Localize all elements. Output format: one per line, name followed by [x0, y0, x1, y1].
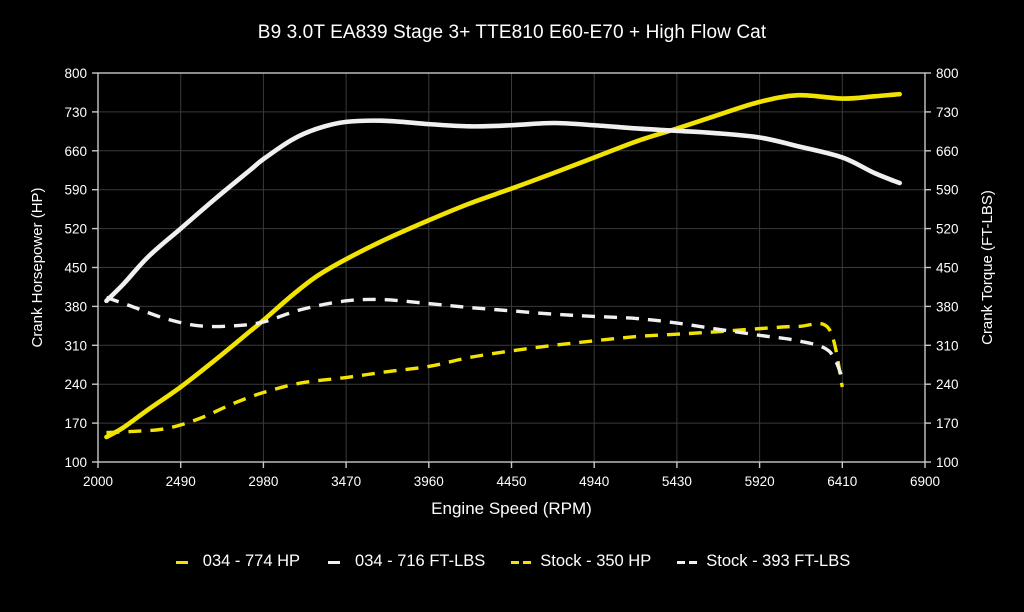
y-left-tick-label: 520	[64, 222, 87, 237]
y-left-axis-title: Crank Horsepower (HP)	[29, 187, 46, 347]
legend-dash-segment	[689, 561, 697, 564]
series-line-3	[106, 298, 842, 378]
legend-swatch-stock-torque	[677, 555, 699, 569]
legend-item-1[interactable]: 034 - 716 FT-LBS	[326, 552, 485, 571]
x-tick-label: 3960	[414, 474, 444, 489]
series-line-0	[106, 94, 899, 437]
y-left-tick-label: 800	[64, 66, 87, 81]
y-left-tick-label: 660	[64, 144, 87, 159]
x-tick-label: 2980	[248, 474, 278, 489]
legend-item-0[interactable]: 034 - 774 HP	[174, 552, 300, 571]
legend-solid-segment	[328, 561, 340, 564]
x-tick-label: 2490	[166, 474, 196, 489]
y-left-tick-label: 310	[64, 338, 87, 353]
x-tick-label: 4450	[496, 474, 526, 489]
y-right-axis-title: Crank Torque (FT-LBS)	[979, 190, 996, 345]
y-left-tick-label: 590	[64, 183, 87, 198]
y-right-tick-label: 380	[936, 299, 959, 314]
series-layer	[106, 94, 899, 437]
y-left-tick-label: 450	[64, 261, 87, 276]
dyno-plot-svg: 1001001701702402403103103803804504505205…	[0, 0, 1024, 612]
legend-label: Stock - 350 HP	[540, 552, 651, 571]
y-right-tick-label: 310	[936, 338, 959, 353]
legend-item-2[interactable]: Stock - 350 HP	[511, 552, 651, 571]
y-right-tick-label: 520	[936, 222, 959, 237]
legend-label: Stock - 393 FT-LBS	[706, 552, 850, 571]
y-left-tick-label: 170	[64, 416, 87, 431]
y-right-tick-label: 100	[936, 455, 959, 470]
y-left-tick-label: 380	[64, 299, 87, 314]
legend-label: 034 - 716 FT-LBS	[355, 552, 485, 571]
x-tick-label: 6410	[827, 474, 857, 489]
legend-item-3[interactable]: Stock - 393 FT-LBS	[677, 552, 850, 571]
x-tick-label: 6900	[910, 474, 940, 489]
legend-swatch-stock-hp	[511, 555, 533, 569]
y-right-tick-label: 590	[936, 183, 959, 198]
x-tick-label: 3470	[331, 474, 361, 489]
x-tick-label: 5920	[745, 474, 775, 489]
x-tick-label: 2000	[83, 474, 113, 489]
y-right-tick-label: 170	[936, 416, 959, 431]
chart-legend: 034 - 774 HP034 - 716 FT-LBSStock - 350 …	[0, 552, 1024, 571]
legend-dash-segment	[523, 561, 531, 564]
legend-dash-segment	[677, 561, 685, 564]
x-tick-label: 4940	[579, 474, 609, 489]
y-left-tick-label: 730	[64, 105, 87, 120]
x-tick-label: 5430	[662, 474, 692, 489]
grid-layer	[98, 73, 925, 462]
y-left-tick-label: 240	[64, 377, 87, 392]
legend-swatch-034-torque	[326, 555, 348, 569]
y-right-tick-label: 450	[936, 261, 959, 276]
legend-solid-segment	[176, 561, 188, 564]
series-line-2	[106, 323, 842, 432]
y-right-tick-label: 800	[936, 66, 959, 81]
x-axis-title: Engine Speed (RPM)	[431, 499, 592, 518]
dyno-chart-root: B9 3.0T EA839 Stage 3+ TTE810 E60-E70 + …	[0, 0, 1024, 612]
legend-swatch-034-hp	[174, 555, 196, 569]
y-left-tick-label: 100	[64, 455, 87, 470]
series-line-1	[106, 121, 899, 301]
y-right-tick-label: 660	[936, 144, 959, 159]
y-right-tick-label: 730	[936, 105, 959, 120]
legend-dash-segment	[511, 561, 519, 564]
y-right-tick-label: 240	[936, 377, 959, 392]
legend-label: 034 - 774 HP	[203, 552, 300, 571]
